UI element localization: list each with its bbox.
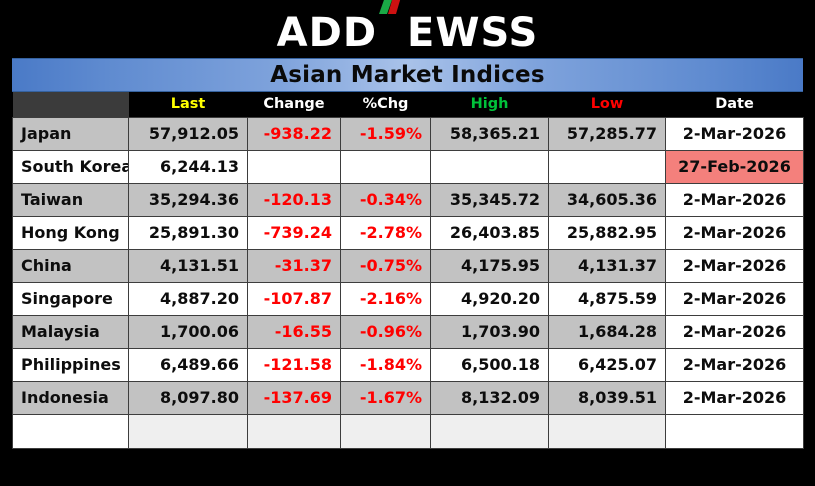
header-row: Last Change %Chg High Low Date — [13, 92, 804, 117]
column-header-low[interactable]: Low — [549, 92, 666, 117]
cell-high: 8,132.09 — [431, 381, 549, 414]
cell-last: 4,887.20 — [129, 282, 248, 315]
cell-change: -739.24 — [248, 216, 341, 249]
page-title: Asian Market Indices — [270, 62, 545, 88]
cell-low: 6,425.07 — [549, 348, 666, 381]
cell-market-name: Philippines — [13, 348, 129, 381]
cell-market-name: Singapore — [13, 282, 129, 315]
cell-high: 1,703.90 — [431, 315, 549, 348]
cell-change — [248, 414, 341, 448]
cell-high — [431, 414, 549, 448]
cell-change: -121.58 — [248, 348, 341, 381]
table-row[interactable]: Japan57,912.05-938.22-1.59%58,365.2157,2… — [13, 117, 804, 150]
cell-high: 6,500.18 — [431, 348, 549, 381]
cell-change: -137.69 — [248, 381, 341, 414]
cell-pct-change: -2.78% — [341, 216, 431, 249]
table-row[interactable]: China4,131.51-31.37-0.75%4,175.954,131.3… — [13, 249, 804, 282]
table-row-blank[interactable] — [13, 414, 804, 448]
cell-pct-change: -0.75% — [341, 249, 431, 282]
cell-date: 2-Mar-2026 — [666, 348, 804, 381]
market-indices-page: ADD EWSS Asian Market Indices Last Chang… — [0, 0, 815, 486]
cell-low: 34,605.36 — [549, 183, 666, 216]
addnewss-logo: ADD EWSS — [277, 6, 539, 53]
logo-text-left: ADD — [277, 13, 377, 53]
cell-date: 2-Mar-2026 — [666, 315, 804, 348]
table-row[interactable]: South Korea6,244.1327-Feb-2026 — [13, 150, 804, 183]
logo-chart-arrow-icon — [377, 6, 407, 46]
cell-date: 2-Mar-2026 — [666, 249, 804, 282]
indices-table-wrapper: Last Change %Chg High Low Date Japan57,9… — [12, 92, 803, 449]
cell-date: 27-Feb-2026 — [666, 150, 804, 183]
cell-date: 2-Mar-2026 — [666, 117, 804, 150]
column-header-change[interactable]: Change — [248, 92, 341, 117]
table-row[interactable]: Philippines6,489.66-121.58-1.84%6,500.18… — [13, 348, 804, 381]
table-row[interactable]: Singapore4,887.20-107.87-2.16%4,920.204,… — [13, 282, 804, 315]
cell-high: 26,403.85 — [431, 216, 549, 249]
table-row[interactable]: Malaysia1,700.06-16.55-0.96%1,703.901,68… — [13, 315, 804, 348]
cell-low — [549, 414, 666, 448]
cell-pct-change: -1.67% — [341, 381, 431, 414]
cell-date: 2-Mar-2026 — [666, 381, 804, 414]
table-row[interactable]: Taiwan35,294.36-120.13-0.34%35,345.7234,… — [13, 183, 804, 216]
cell-date: 2-Mar-2026 — [666, 216, 804, 249]
cell-low: 4,875.59 — [549, 282, 666, 315]
column-header-high[interactable]: High — [431, 92, 549, 117]
column-header-pct-change[interactable]: %Chg — [341, 92, 431, 117]
cell-low — [549, 150, 666, 183]
cell-pct-change: -0.34% — [341, 183, 431, 216]
cell-market-name: South Korea — [13, 150, 129, 183]
cell-high: 4,175.95 — [431, 249, 549, 282]
cell-change — [248, 150, 341, 183]
cell-low: 57,285.77 — [549, 117, 666, 150]
cell-market-name: Malaysia — [13, 315, 129, 348]
cell-high: 35,345.72 — [431, 183, 549, 216]
cell-last: 1,700.06 — [129, 315, 248, 348]
cell-market-name: Taiwan — [13, 183, 129, 216]
cell-change: -16.55 — [248, 315, 341, 348]
cell-low: 1,684.28 — [549, 315, 666, 348]
cell-market-name: Indonesia — [13, 381, 129, 414]
cell-change: -31.37 — [248, 249, 341, 282]
cell-market-name: China — [13, 249, 129, 282]
table-row[interactable]: Indonesia8,097.80-137.69-1.67%8,132.098,… — [13, 381, 804, 414]
table-row[interactable]: Hong Kong25,891.30-739.24-2.78%26,403.85… — [13, 216, 804, 249]
cell-market-name — [13, 414, 129, 448]
cell-last: 25,891.30 — [129, 216, 248, 249]
cell-last — [129, 414, 248, 448]
cell-change: -107.87 — [248, 282, 341, 315]
cell-pct-change: -2.16% — [341, 282, 431, 315]
cell-pct-change — [341, 150, 431, 183]
column-header-name[interactable] — [13, 92, 129, 117]
table-header: Last Change %Chg High Low Date — [13, 92, 804, 117]
cell-pct-change: -1.59% — [341, 117, 431, 150]
table-body: Japan57,912.05-938.22-1.59%58,365.2157,2… — [13, 117, 804, 448]
column-header-last[interactable]: Last — [129, 92, 248, 117]
cell-low: 25,882.95 — [549, 216, 666, 249]
logo-text-right: EWSS — [407, 13, 538, 53]
column-header-date[interactable]: Date — [666, 92, 804, 117]
cell-pct-change — [341, 414, 431, 448]
cell-last: 8,097.80 — [129, 381, 248, 414]
cell-high: 58,365.21 — [431, 117, 549, 150]
cell-market-name: Hong Kong — [13, 216, 129, 249]
cell-market-name: Japan — [13, 117, 129, 150]
cell-last: 6,244.13 — [129, 150, 248, 183]
cell-date: 2-Mar-2026 — [666, 183, 804, 216]
page-title-band: Asian Market Indices — [12, 58, 803, 92]
brand-header: ADD EWSS — [0, 0, 815, 58]
cell-change: -120.13 — [248, 183, 341, 216]
cell-change: -938.22 — [248, 117, 341, 150]
asian-market-indices-table: Last Change %Chg High Low Date Japan57,9… — [12, 92, 804, 449]
cell-date — [666, 414, 804, 448]
cell-low: 8,039.51 — [549, 381, 666, 414]
cell-pct-change: -0.96% — [341, 315, 431, 348]
cell-high — [431, 150, 549, 183]
cell-date: 2-Mar-2026 — [666, 282, 804, 315]
cell-last: 6,489.66 — [129, 348, 248, 381]
cell-last: 4,131.51 — [129, 249, 248, 282]
cell-low: 4,131.37 — [549, 249, 666, 282]
cell-last: 35,294.36 — [129, 183, 248, 216]
cell-high: 4,920.20 — [431, 282, 549, 315]
cell-last: 57,912.05 — [129, 117, 248, 150]
cell-pct-change: -1.84% — [341, 348, 431, 381]
